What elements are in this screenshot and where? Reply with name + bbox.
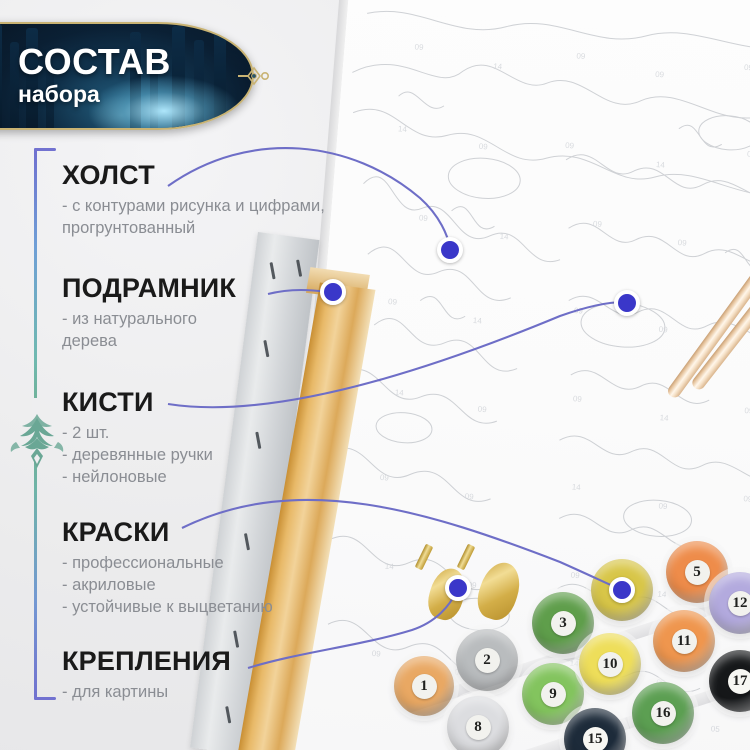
connector-mounts [248,590,457,668]
hanging-bracket-2 [472,558,526,625]
svg-text:09: 09 [464,492,474,502]
svg-text:14: 14 [657,590,667,600]
svg-text:14: 14 [394,388,404,398]
paint-pot-number: 9 [541,682,566,707]
staple [263,340,269,357]
svg-text:09: 09 [593,219,603,229]
paint-pot-number: 16 [651,701,676,726]
paint-pot-number: 12 [728,591,750,616]
paint-pot-rim [389,651,459,721]
svg-text:09: 09 [371,649,381,659]
paint-pot-2: 2 [456,629,518,691]
paint-pot-rim [704,567,750,639]
callout-paints: КРАСКИ - профессиональные - акриловые - … [62,519,273,618]
svg-text:14: 14 [384,562,394,572]
paint-pot-17: 17 [709,650,750,712]
staple [225,706,231,723]
paint-pot-number: 10 [598,652,623,677]
svg-text:14: 14 [571,482,581,492]
paint-by-numbers-outline-art: 091409 090914 090914 090914 090914 09140… [288,0,750,750]
callout-mounts-title: КРЕПЛЕНИЯ [62,648,231,675]
paint-pot-rim [627,677,699,749]
paint-pot-5: 5 [666,541,728,603]
bracket-top-arm [34,148,56,151]
callout-line: - с контурами рисунка и цифрами, [62,196,325,218]
paint-pot-10: 10 [579,633,641,695]
svg-text:09: 09 [574,306,584,316]
connector-brushes [168,302,624,407]
callout-mounts: КРЕПЛЕНИЯ - для картины [62,648,231,704]
svg-text:09: 09 [677,238,687,248]
brush-handle [665,221,750,400]
svg-text:14: 14 [493,62,503,72]
svg-text:05: 05 [710,724,720,734]
svg-text:14: 14 [472,316,482,326]
staple [233,631,239,648]
callout-line: - устойчивые к выцветанию [62,597,273,619]
svg-text:09: 09 [656,678,666,688]
paint-pot-number: 8 [466,715,491,740]
paint-pot-15: 15 [564,708,626,750]
printed-canvas-sheet: 091409 090914 090914 090914 090914 09140… [288,0,750,750]
svg-text:09: 09 [655,70,665,80]
callout-mounts-lines: - для картины [62,682,231,704]
svg-text:09: 09 [454,668,464,678]
svg-text:09: 09 [419,213,429,223]
paint-pot-number: 15 [583,727,608,750]
mounts-marker-dot[interactable] [445,575,471,601]
staple [255,432,261,449]
banner-subtitle: набора [18,82,252,107]
paint-pot-rim [517,658,589,730]
canvas-marker-dot[interactable] [437,237,463,263]
staple [270,262,276,279]
canvas-edge [279,0,352,749]
staple [296,260,302,277]
paint-pot-number: 3 [551,611,576,636]
paint-pot-number: 2 [475,648,500,673]
svg-text:14: 14 [499,232,509,242]
callout-line: - для картины [62,682,231,704]
screw [457,544,476,571]
callout-line: - профессиональные [62,553,273,575]
paint-pot-8: 8 [447,696,509,750]
paint-pot-rim [559,703,631,750]
paint-pot-rim [451,624,523,696]
svg-text:05: 05 [739,670,749,680]
svg-text:09: 09 [658,501,668,511]
callout-canvas: ХОЛСТ - с контурами рисунка и цифрами, п… [62,162,325,240]
svg-text:14: 14 [659,413,669,423]
callout-brushes-lines: - 2 шт. - деревянные ручки - нейлоновые [62,423,213,488]
banner-text: СОСТАВ набора [0,24,252,128]
paint-pot-number: 5 [685,560,710,585]
paint-pot-number: 11 [672,629,697,654]
paint-pot-rim [704,645,750,717]
bracket-bottom-arm [34,697,56,700]
svg-text:09: 09 [658,325,668,335]
paint-pot-rim [442,691,514,750]
brush-handle [690,187,750,392]
paint-pot-12: 12 [709,572,750,634]
screw [415,544,434,571]
callout-line: - деревянные ручки [62,445,213,467]
paint-tray-bar [436,674,750,750]
paint-pot-3: 3 [532,592,594,654]
svg-text:09: 09 [744,63,750,73]
paint-pot-rim [574,628,646,700]
svg-text:09: 09 [414,42,424,52]
svg-text:09: 09 [565,141,575,151]
callout-stretcher: ПОДРАМНИК - из натурального дерева [62,275,236,353]
callout-canvas-title: ХОЛСТ [62,162,325,189]
callout-line: дерева [62,331,236,353]
svg-text:09: 09 [478,142,488,152]
paint-pot-16: 16 [632,682,694,744]
banner-plate: СОСТАВ набора [0,22,254,130]
stretcher-wood-slats [238,283,376,750]
svg-text:09: 09 [743,494,750,504]
paint-pot-rim [527,587,599,659]
paint-pot-number: 17 [728,669,750,694]
paint-pot-9: 9 [522,663,584,725]
svg-text:14: 14 [569,659,579,669]
svg-text:09: 09 [570,571,580,581]
callout-canvas-lines: - с контурами рисунка и цифрами, прогрун… [62,196,325,240]
svg-text:07: 07 [591,709,601,719]
callout-line: - акриловые [62,575,273,597]
callout-paints-title: КРАСКИ [62,519,273,546]
paint-pot-rim [661,536,733,608]
callout-line: - нейлоновые [62,467,213,489]
svg-text:09: 09 [388,297,398,307]
banner: СОСТАВ набора [0,22,254,130]
paint-pot-11: 11 [653,610,715,672]
svg-text:09: 09 [573,394,583,404]
paint-pot-1: 1 [394,656,454,716]
connector-stretcher [268,290,328,294]
callout-brushes: КИСТИ - 2 шт. - деревянные ручки - нейло… [62,389,213,488]
svg-text:09: 09 [742,582,750,592]
paint-pot-rim [648,605,720,677]
brushes-marker-dot[interactable] [614,290,640,316]
svg-text:09: 09 [380,473,390,483]
paints-marker-dot[interactable] [609,577,635,603]
paint-tray-bar [405,591,750,714]
callout-line: прогрунтованный [62,218,325,240]
svg-text:09: 09 [743,318,750,328]
svg-text:14: 14 [656,160,666,170]
callout-brushes-title: КИСТИ [62,389,213,416]
banner-title: СОСТАВ [18,44,252,80]
stretcher-marker-dot[interactable] [320,279,346,305]
callout-line: - 2 шт. [62,423,213,445]
paint-pot-number: 1 [412,674,437,699]
svg-text:09: 09 [744,406,750,416]
callout-stretcher-lines: - из натурального дерева [62,309,236,353]
svg-text:09: 09 [477,405,487,415]
svg-text:09: 09 [576,51,586,61]
callout-line: - из натурального [62,309,236,331]
callout-stretcher-title: ПОДРАМНИК [62,275,236,302]
callout-paints-lines: - профессиональные - акриловые - устойчи… [62,553,273,618]
svg-text:14: 14 [398,124,408,134]
winged-ornament-icon [6,396,68,472]
